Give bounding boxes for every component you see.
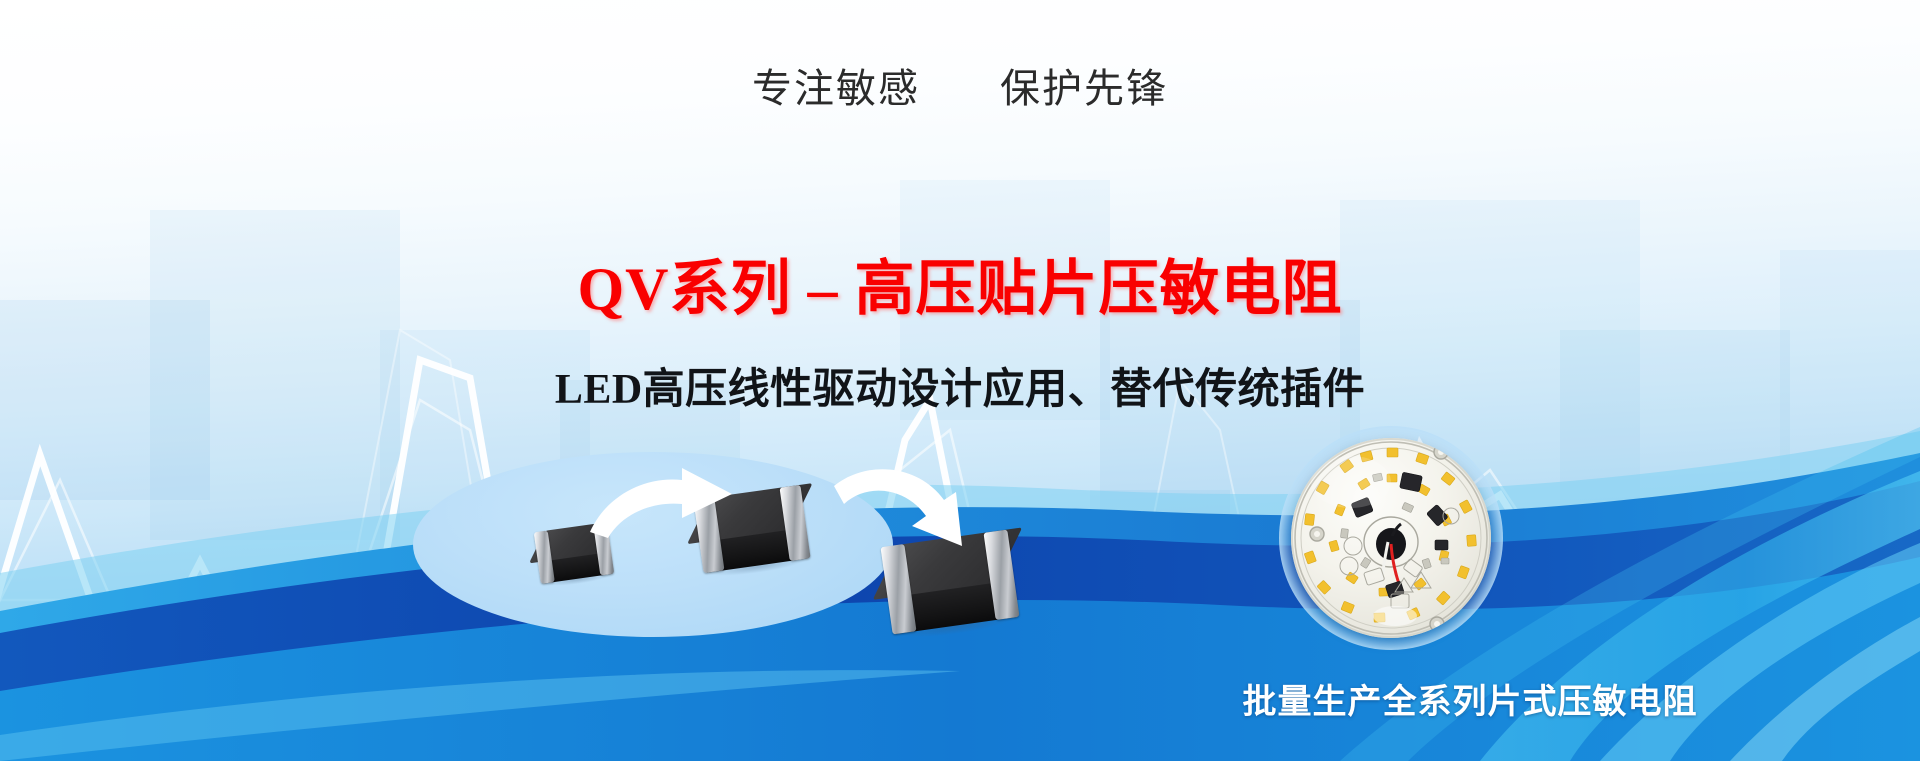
flow-arrow-2-icon xyxy=(832,464,982,550)
led-pcb-detail xyxy=(1291,438,1491,638)
flow-arrow-1-icon xyxy=(586,466,736,544)
tagline-left: 专注敏感 xyxy=(752,66,920,111)
promo-banner: 专注敏感 保护先锋 QV系列 – 高压贴片压敏电阻 LED高压线性驱动设计应用、… xyxy=(0,0,1920,761)
banner-title: QV系列 – 高压贴片压敏电阻 xyxy=(0,240,1920,327)
led-pcb-module xyxy=(1291,438,1491,638)
tagline: 专注敏感 保护先锋 xyxy=(0,56,1920,114)
tagline-right: 保护先锋 xyxy=(1000,66,1168,111)
banner-footnote: 批量生产全系列片式压敏电阻 xyxy=(1170,674,1770,723)
banner-subtitle: LED高压线性驱动设计应用、替代传统插件 xyxy=(0,355,1920,416)
